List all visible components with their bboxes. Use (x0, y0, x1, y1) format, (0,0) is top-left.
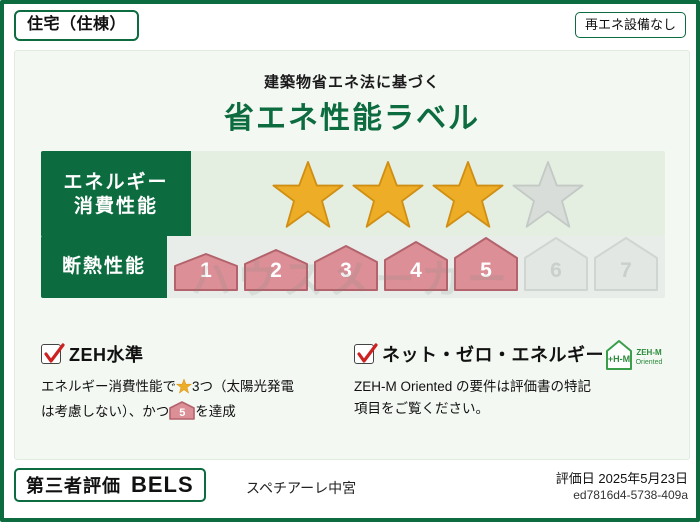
main-panel: 建築物省エネ法に基づく 省エネ性能ラベル エネルギー 消費性能 (14, 50, 690, 460)
insulation-level-house: 3 (313, 244, 379, 292)
zeh-standard-title: ZEH水準 (69, 341, 144, 367)
insulation-level-house: 1 (173, 252, 239, 292)
insulation-level-house: 5 (453, 236, 519, 292)
zeh-body-part3: は考慮しない）、かつ (41, 404, 169, 419)
building-name: スペチアーレ中宮 (246, 478, 356, 498)
star-small-icon (176, 378, 192, 401)
insulation-level-value: 6 (550, 259, 562, 292)
insulation-level-house-inactive: 6 (523, 236, 589, 292)
checkbox-checked-icon (41, 344, 61, 364)
zeh-body-part4: を達成 (195, 404, 236, 419)
heading-subtitle: 建築物省エネ法に基づく (15, 71, 689, 92)
footer: 第三者評価 BELS スペチアーレ中宮 評価日 2025年5月23日 ed781… (14, 466, 690, 516)
net-zero-energy-block: ネット・ゼロ・エネルギー +H-M ZEH-M Oriented ZEH-M O… (354, 341, 667, 451)
net-zero-energy-body: ZEH-M Oriented の要件は評価書の特記 項目をご覧ください。 (354, 376, 653, 421)
energy-performance-row: エネルギー 消費性能 (41, 151, 665, 237)
svg-text:+H-M: +H-M (608, 354, 630, 364)
star-filled-icon (351, 159, 425, 229)
zeh-body-part1: エネルギー消費性能で (41, 379, 176, 394)
insulation-performance-row-label: 断熱性能 (41, 236, 167, 298)
evaluation-date-value: 2025年5月23日 (598, 471, 688, 486)
zeh-body-house-value: 5 (169, 404, 195, 422)
renewable-equipment-tag: 再エネ設備なし (575, 12, 686, 38)
evaluation-date-label: 評価日 (556, 471, 595, 486)
star-filled-icon (431, 159, 505, 229)
zeh-standard-body: エネルギー消費性能で3つ（太陽光発電 は考慮しない）、かつ5を達成 (41, 376, 340, 424)
evaluation-date: 評価日 2025年5月23日 (556, 468, 688, 487)
evaluation-id: ed7816d4-5738-409a (573, 488, 688, 502)
zeh-m-oriented-badge: +H-M ZEH-M Oriented (599, 335, 665, 375)
net-zero-body-line2: 項目をご覧ください。 (354, 401, 489, 416)
svg-text:ZEH-M: ZEH-M (636, 348, 662, 357)
zeh-body-star-count: 3つ (192, 379, 213, 394)
insulation-level-value: 4 (410, 259, 422, 292)
energy-performance-label-line1: エネルギー (63, 171, 168, 195)
insulation-level-house: 4 (383, 240, 449, 292)
insulation-level-value: 7 (620, 259, 632, 292)
info-section: ZEH水準 エネルギー消費性能で3つ（太陽光発電 は考慮しない）、かつ5を達成 … (41, 341, 667, 451)
energy-performance-label: 住宅（住棟） 再エネ設備なし 建築物省エネ法に基づく 省エネ性能ラベル エネルギ… (0, 0, 700, 522)
insulation-level-value: 3 (340, 259, 352, 292)
bels-logo: BELS (131, 472, 194, 498)
third-party-label: 第三者評価 (26, 472, 121, 498)
checkbox-checked-icon (354, 344, 374, 364)
house-small-icon: 5 (169, 401, 195, 420)
zeh-standard-header: ZEH水準 (41, 341, 340, 367)
insulation-level-house-inactive: 7 (593, 236, 659, 292)
third-party-evaluation-badge: 第三者評価 BELS (14, 468, 206, 502)
page-title: 省エネ性能ラベル (15, 93, 689, 137)
star-empty-icon (511, 159, 585, 229)
net-zero-body-line1: ZEH-M Oriented の要件は評価書の特記 (354, 379, 591, 394)
insulation-level-value: 5 (480, 259, 492, 292)
insulation-level-scale: 1 2 3 4 5 (167, 236, 665, 298)
energy-performance-label-line2: 消費性能 (74, 195, 158, 219)
insulation-level-value: 1 (200, 259, 212, 292)
star-filled-icon (271, 159, 345, 229)
zeh-body-part2: （太陽光発電 (213, 379, 294, 394)
net-zero-energy-title: ネット・ゼロ・エネルギー (382, 341, 604, 367)
energy-star-rating (191, 151, 665, 237)
energy-performance-row-label: エネルギー 消費性能 (41, 151, 191, 237)
insulation-performance-row: 断熱性能 1 2 3 4 (41, 236, 665, 298)
insulation-level-house: 2 (243, 248, 309, 292)
zeh-standard-block: ZEH水準 エネルギー消費性能で3つ（太陽光発電 は考慮しない）、かつ5を達成 (41, 341, 354, 451)
svg-text:Oriented: Oriented (636, 359, 663, 366)
insulation-level-value: 2 (270, 259, 282, 292)
building-type-tag: 住宅（住棟） (14, 10, 139, 41)
